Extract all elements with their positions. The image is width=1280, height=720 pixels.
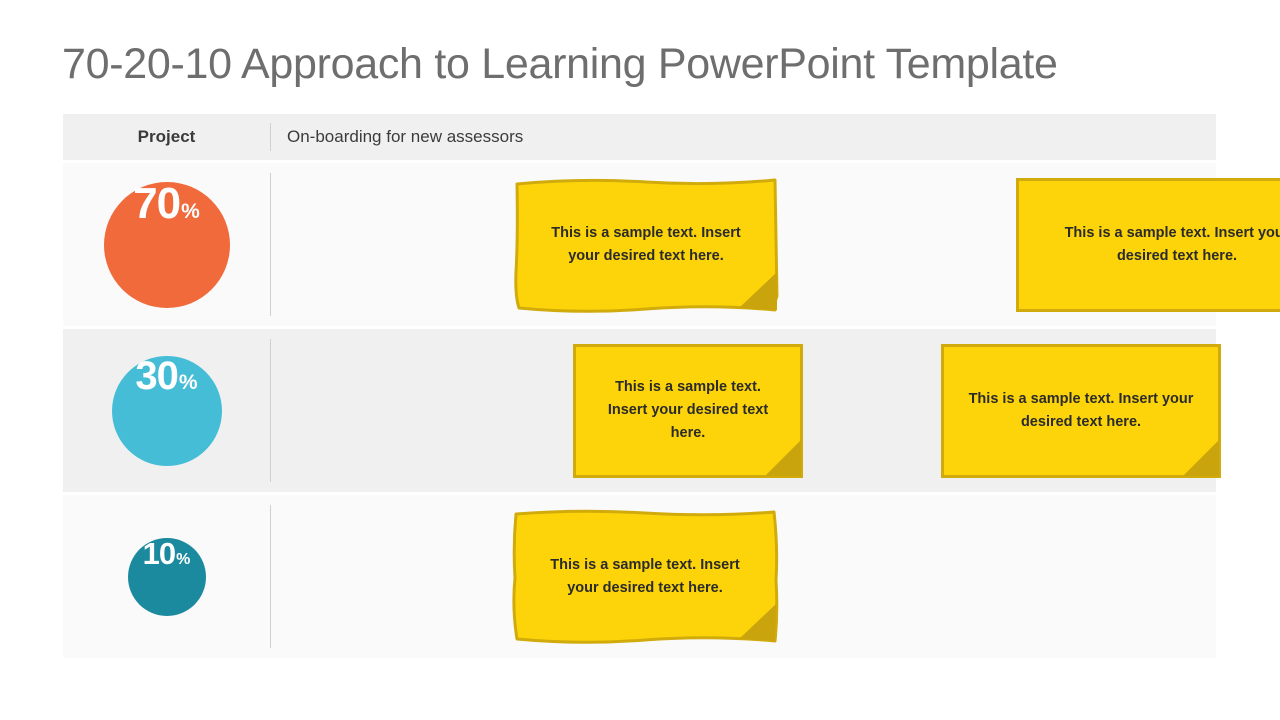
note-text: This is a sample text. Insert your desir… <box>1016 222 1280 268</box>
percent-symbol: % <box>181 201 200 222</box>
table-header-row: Project On-boarding for new assessors <box>63 114 1216 160</box>
note-text: This is a sample text. Insert your desir… <box>941 388 1221 434</box>
header-project-value: On-boarding for new assessors <box>271 127 523 147</box>
percent-cell: 70% <box>63 163 270 326</box>
page-title: 70-20-10 Approach to Learning PowerPoint… <box>62 40 1222 89</box>
note-card[interactable]: This is a sample text. Insert your desir… <box>1016 178 1280 312</box>
approach-table: Project On-boarding for new assessors 70… <box>63 114 1216 658</box>
note-text: This is a sample text. Insert your desir… <box>573 376 803 445</box>
header-value-cell: On-boarding for new assessors <box>271 114 1216 160</box>
row-notes-area: This is a sample text. Insert your desir… <box>271 163 1216 326</box>
note-card[interactable]: This is a sample text. Insert your desir… <box>511 176 781 314</box>
percent-circle-70: 70% <box>104 182 230 308</box>
percent-number: 30 <box>135 356 178 396</box>
note-text: This is a sample text. Insert your desir… <box>511 222 781 268</box>
note-card[interactable]: This is a sample text. Insert your desir… <box>573 344 803 478</box>
percent-number: 10 <box>143 538 175 569</box>
note-card[interactable]: This is a sample text. Insert your desir… <box>509 508 781 646</box>
percent-number: 70 <box>133 182 180 226</box>
header-label-cell: Project <box>63 114 270 160</box>
percent-cell: 10% <box>63 495 270 658</box>
table-row: 30% This is a sample text. Insert your d… <box>63 329 1216 492</box>
percent-circle-30: 30% <box>112 356 222 466</box>
note-card[interactable]: This is a sample text. Insert your desir… <box>941 344 1221 478</box>
percent-circle-10: 10% <box>128 538 206 616</box>
header-project-label: Project <box>138 127 196 147</box>
row-notes-area: This is a sample text. Insert your desir… <box>271 495 1216 658</box>
table-row: 70% This is a sample text. Insert your d… <box>63 163 1216 326</box>
percent-symbol: % <box>179 372 198 393</box>
table-row: 10% This is a sample text. Insert your d… <box>63 495 1216 658</box>
note-text: This is a sample text. Insert your desir… <box>509 554 781 600</box>
percent-cell: 30% <box>63 329 270 492</box>
row-notes-area: This is a sample text. Insert your desir… <box>271 329 1216 492</box>
percent-symbol: % <box>176 552 190 568</box>
